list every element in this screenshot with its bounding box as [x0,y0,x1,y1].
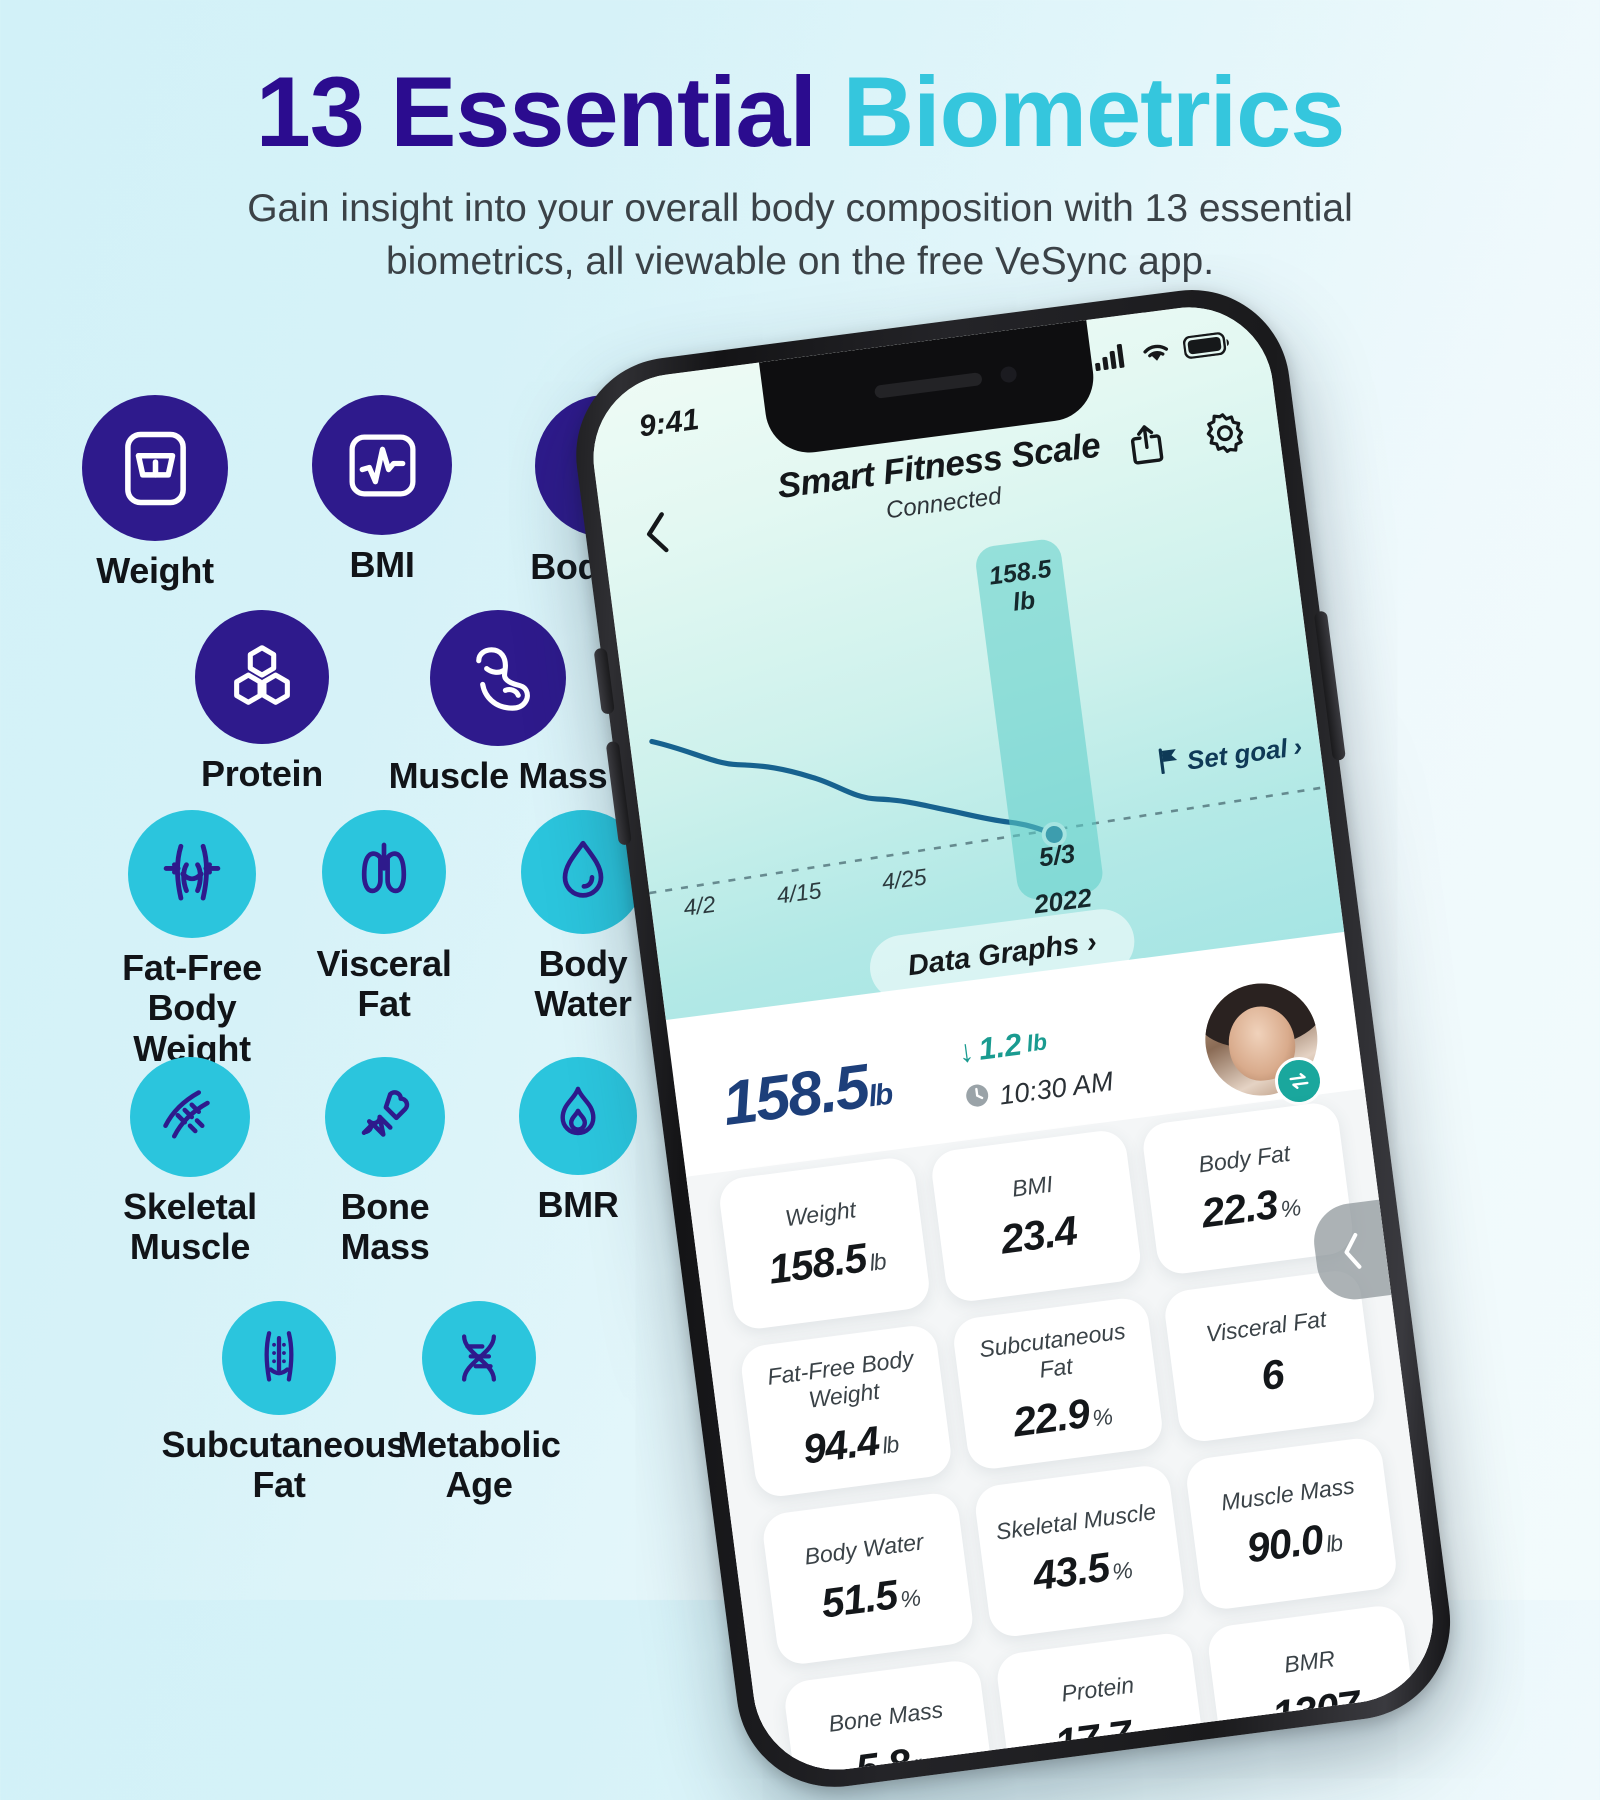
metric-cards: Weight158.5lbBMI23.4Body Fat22.3%Fat-Fre… [687,1097,1443,1780]
metric-card-label: Bone Mass [827,1696,945,1738]
cellular-bars-icon [1093,343,1130,376]
muscle-fibers-icon [130,1057,250,1177]
share-icon[interactable] [1125,418,1175,474]
metric-card-label: BMI [1010,1170,1054,1203]
metric-card-label: Visceral Fat [1204,1305,1328,1348]
metric-card-value: 90.0lb [1244,1514,1344,1573]
metric-card-skeletal-muscle[interactable]: Skeletal Muscle43.5% [972,1463,1187,1639]
metric-card-label: BMR [1282,1645,1336,1679]
biometric-item-fat-free-body-weight: Fat-FreeBody Weight [87,810,297,1069]
metric-card-value: 43.5% [1031,1541,1135,1600]
biometric-item-muscle-mass: Muscle Mass [383,610,613,796]
metric-card-value: 22.3% [1199,1178,1303,1237]
clock-icon [963,1081,993,1117]
biometric-item-skeletal-muscle: SkeletalMuscle [95,1057,285,1268]
down-arrow-icon: ↓ [956,1033,976,1071]
screen-top-gradient: 9:41 Smart Fi [583,297,1344,1020]
summary-delta: ↓ 1.2lb [956,1023,1049,1070]
biometric-label: Muscle Mass [383,756,613,796]
biometric-label: Protein [162,754,362,794]
summary-time: 10:30 AM [963,1065,1116,1117]
metric-card-label: Subcutaneous Fat [959,1315,1149,1394]
battery-icon [1182,330,1231,364]
scale-icon [82,395,228,541]
biometric-item-metabolic-age: MetabolicAge [387,1301,572,1506]
biometric-label: SkeletalMuscle [95,1187,285,1268]
page-subtitle: Gain insight into your overall body comp… [210,182,1390,288]
biometric-label: BoneMass [298,1187,473,1268]
metric-card-body-water[interactable]: Body Water51.5% [761,1491,976,1667]
lungs-icon [322,810,446,934]
metric-card-muscle-mass[interactable]: Muscle Mass90.0lb [1184,1436,1399,1612]
gear-icon[interactable] [1198,406,1252,465]
phone-mockup: 9:41 Smart Fi [564,263,1575,1740]
metric-card-value: 22.9% [1011,1387,1115,1446]
bones-icon [325,1057,445,1177]
metric-card-bone-mass[interactable]: Bone Mass5.8lb [782,1658,997,1779]
flag-icon [1157,746,1183,782]
wifi-icon [1138,337,1173,370]
biometric-item-weight: Weight [55,395,255,591]
biometric-label: VisceralFat [294,944,474,1025]
metric-card-value: 6 [1259,1351,1287,1400]
metric-card-value: 51.5% [819,1569,923,1628]
biometric-label: BMR [491,1185,666,1225]
metric-card-bmi[interactable]: BMI23.4 [929,1128,1144,1304]
metric-card-protein[interactable]: Protein17.7% [994,1631,1209,1780]
metric-card-label: Fat-Free Body Weight [747,1343,937,1422]
biometric-label: Weight [55,551,255,591]
metric-card-value: 23.4 [998,1207,1079,1263]
metric-card-weight[interactable]: Weight158.5lb [717,1155,932,1331]
metric-card-label: Body Fat [1197,1140,1292,1179]
torso-skin-icon [222,1301,336,1415]
chart-xtick-2: 4/25 [880,863,928,896]
metric-card-value: 1307 [1270,1682,1363,1740]
metric-card-label: Protein [1060,1671,1136,1708]
summary-weight: 158.5lb [719,1048,895,1140]
chart-xtick-0: 4/2 [682,891,717,922]
dna-icon [422,1301,536,1415]
status-icons [1093,330,1232,376]
heartbeat-monitor-icon [312,395,452,535]
biometric-item-bmr: BMR [491,1057,666,1225]
metric-card-label: Muscle Mass [1220,1472,1357,1517]
chart-xtick-1: 4/15 [775,877,823,910]
page-title: 13 Essential Biometrics [0,62,1600,161]
flame-icon [519,1057,637,1175]
metric-card-fat-free-body-weight[interactable]: Fat-Free Body Weight94.4lb [739,1323,954,1499]
biometric-item-protein: Protein [162,610,362,794]
metric-card-value: 5.8lb [853,1738,931,1780]
earpiece-speaker [874,372,983,399]
page-title-primary: 13 Essential [256,56,843,167]
metrics-sheet: 158.5lb ↓ 1.2lb 10:30 AM [667,940,1443,1780]
biometric-label: Fat-FreeBody Weight [87,948,297,1069]
flexed-arm-icon [430,610,566,746]
metric-card-label: Skeletal Muscle [994,1498,1157,1546]
metric-card-label: Weight [783,1196,857,1233]
biometric-item-bmi: BMI [282,395,482,585]
metric-card-bmr[interactable]: BMR1307 [1206,1603,1421,1779]
page-title-accent: Biometrics [843,56,1345,167]
molecule-icon [195,610,329,744]
metric-card-label: Body Water [803,1528,925,1571]
waist-measure-icon [128,810,256,938]
biometric-label: SubcutaneousFat [162,1425,397,1506]
status-time: 9:41 [637,403,701,444]
biometric-item-bone-mass: BoneMass [298,1057,473,1268]
biometric-item-visceral-fat: VisceralFat [294,810,474,1025]
biometric-item-subcutaneous-fat: SubcutaneousFat [162,1301,397,1506]
metric-card-value: 94.4lb [800,1415,900,1474]
metric-card-subcutaneous-fat[interactable]: Subcutaneous Fat22.9% [951,1296,1166,1472]
front-camera [1000,366,1018,384]
biometric-label: MetabolicAge [387,1425,572,1506]
biometric-label: BMI [282,545,482,585]
metric-card-value: 158.5lb [766,1232,888,1294]
metric-card-value: 17.7% [1052,1709,1156,1768]
chart-tooltip-value: 158.5lb [976,553,1069,622]
